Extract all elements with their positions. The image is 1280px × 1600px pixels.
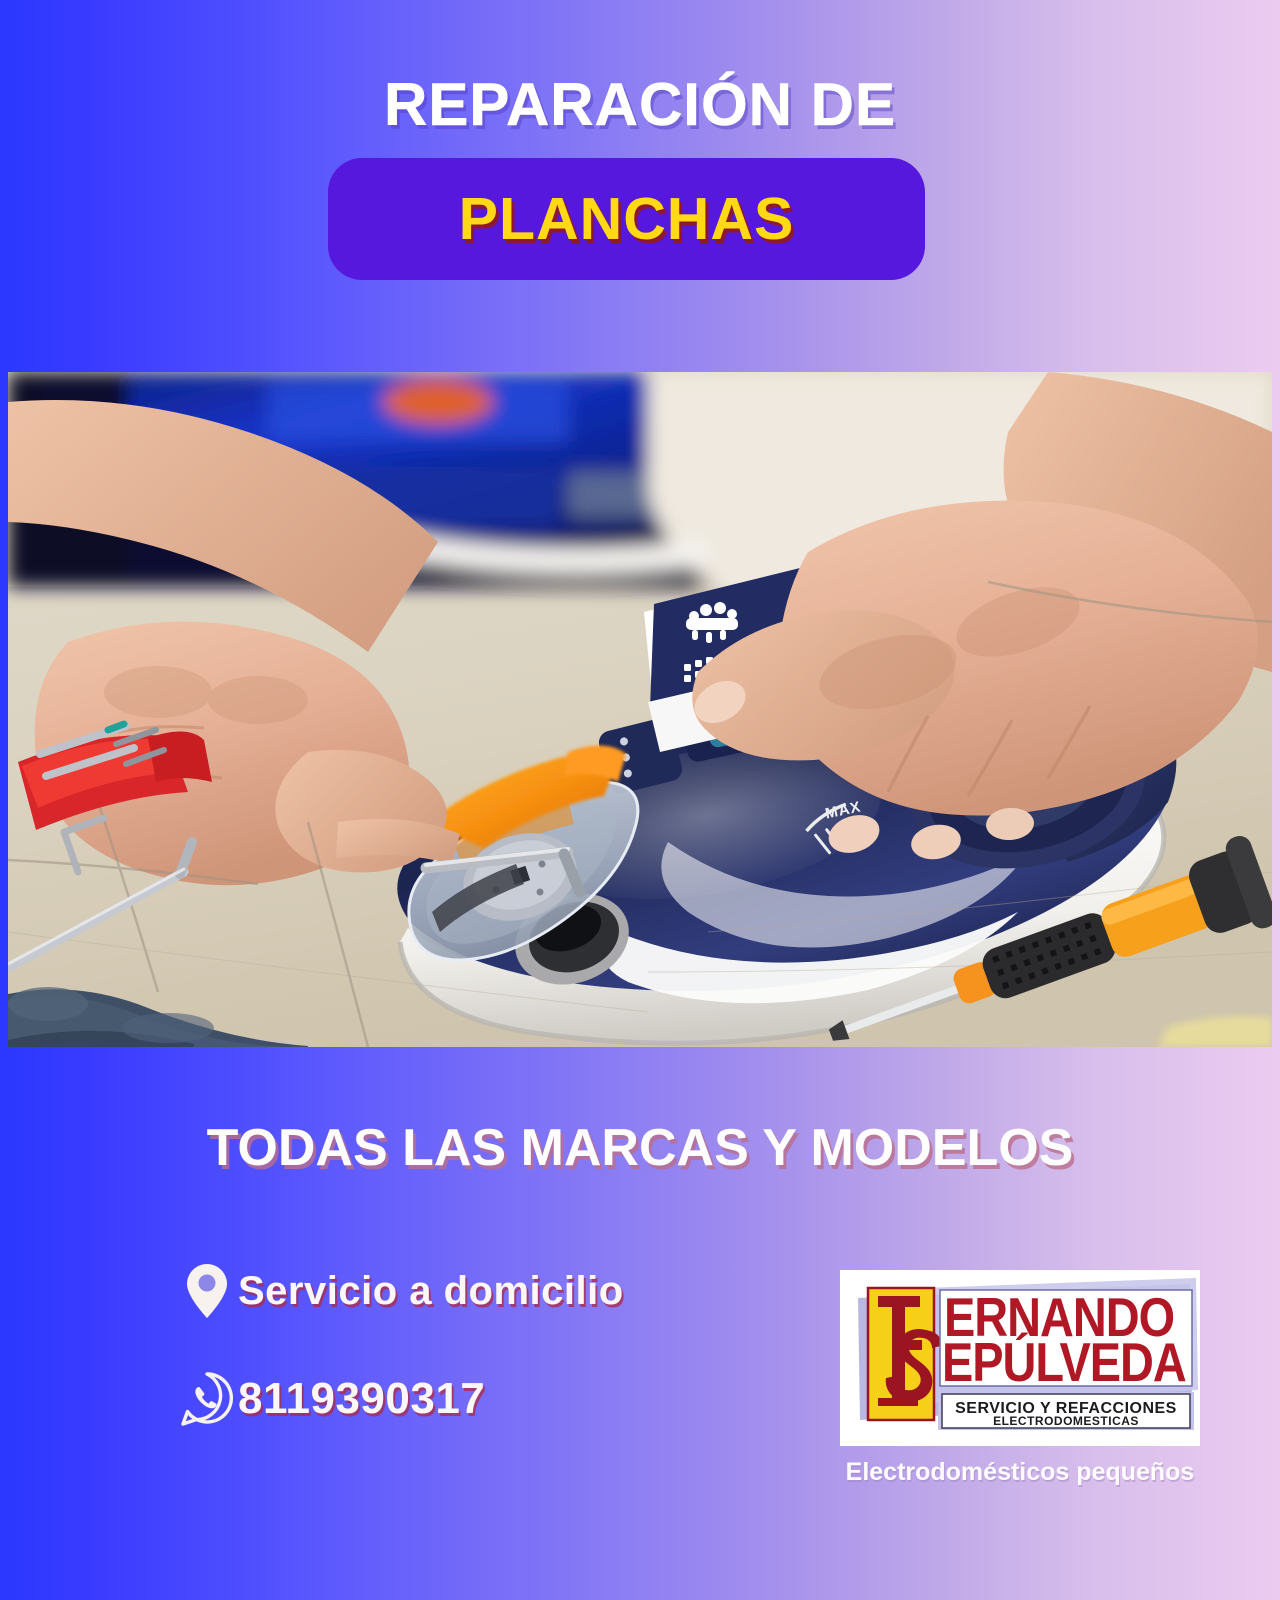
header-section: REPARACIÓN DE PLANCHAS [0, 0, 1280, 372]
contact-list: Servicio a domicilio 8119390317 [176, 1262, 796, 1478]
logo-caption: Electrodomésticos pequeños [838, 1458, 1202, 1487]
contact-row-address: Servicio a domicilio [176, 1262, 796, 1320]
logo-artwork: ERNANDO EPÚLVEDA SERVICIO Y REFACCIONES … [840, 1270, 1200, 1446]
planchas-highlight-button[interactable]: PLANCHAS [328, 158, 925, 280]
contact-label-phone: 8119390317 [238, 1374, 485, 1424]
tagline: TODAS LAS MARCAS Y MODELOS [0, 1118, 1280, 1178]
contact-label-address: Servicio a domicilio [238, 1269, 624, 1314]
whatsapp-phone-icon [176, 1370, 238, 1428]
photo-illustration: COTTON SILK MAX [8, 372, 1272, 1047]
logo-sub-line2: ELECTRODOMESTICAS [993, 1414, 1139, 1428]
page-title: REPARACIÓN DE [0, 70, 1280, 139]
planchas-button-label: PLANCHAS [328, 158, 925, 280]
location-pin-icon [176, 1262, 238, 1320]
iron-repair-photo: COTTON SILK MAX [8, 372, 1272, 1047]
contact-row-phone[interactable]: 8119390317 [176, 1370, 796, 1428]
company-logo: ERNANDO EPÚLVEDA SERVICIO Y REFACCIONES … [840, 1270, 1200, 1446]
logo-name-line2: EPÚLVEDA [942, 1332, 1186, 1393]
